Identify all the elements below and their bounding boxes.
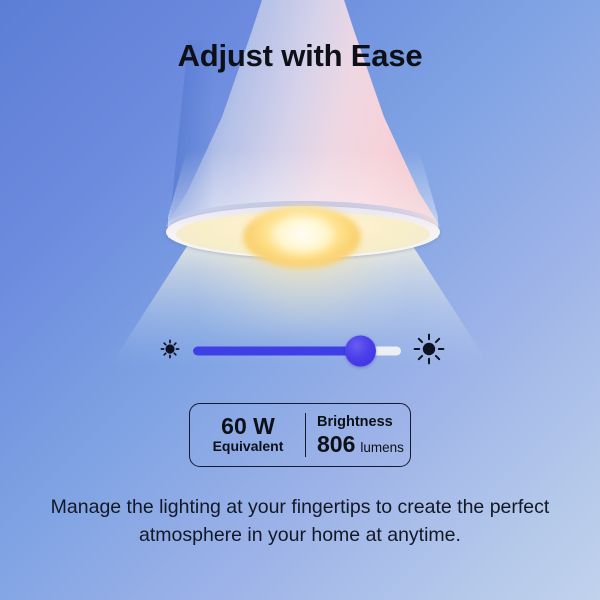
brightness-unit: lumens	[360, 441, 404, 456]
pendant-lamp-shade	[168, 0, 438, 238]
shade-cavity	[176, 212, 430, 256]
slider-track[interactable]	[193, 340, 401, 362]
promo-banner: Adjust with Ease	[0, 0, 600, 600]
glowing-bulb-icon	[243, 206, 361, 268]
wattage-value: 60 W	[200, 414, 296, 438]
shade-rim	[166, 206, 440, 258]
brightness-slider[interactable]	[158, 331, 446, 371]
bulb-core-glow	[272, 218, 334, 254]
light-cone-glow	[205, 225, 400, 335]
page-title: Adjust with Ease	[0, 38, 600, 74]
shade-lower-highlight	[168, 150, 438, 238]
brightness-value: 806	[317, 432, 355, 456]
wattage-label: Equivalent	[200, 438, 296, 456]
brightness-spec: Brightness 806 lumens	[315, 414, 410, 456]
sun-low-icon[interactable]	[158, 337, 182, 366]
sun-high-icon[interactable]	[412, 332, 446, 371]
slider-thumb[interactable]	[345, 336, 376, 367]
brightness-value-row: 806 lumens	[317, 432, 410, 456]
spec-divider	[305, 413, 306, 457]
brightness-label: Brightness	[317, 414, 410, 431]
wattage-spec: 60 W Equivalent	[190, 414, 296, 456]
shade-rim-lip	[166, 201, 440, 227]
slider-track-fill	[193, 347, 365, 356]
spec-box: 60 W Equivalent Brightness 806 lumens	[189, 403, 411, 467]
caption-text: Manage the lighting at your fingertips t…	[40, 493, 560, 550]
